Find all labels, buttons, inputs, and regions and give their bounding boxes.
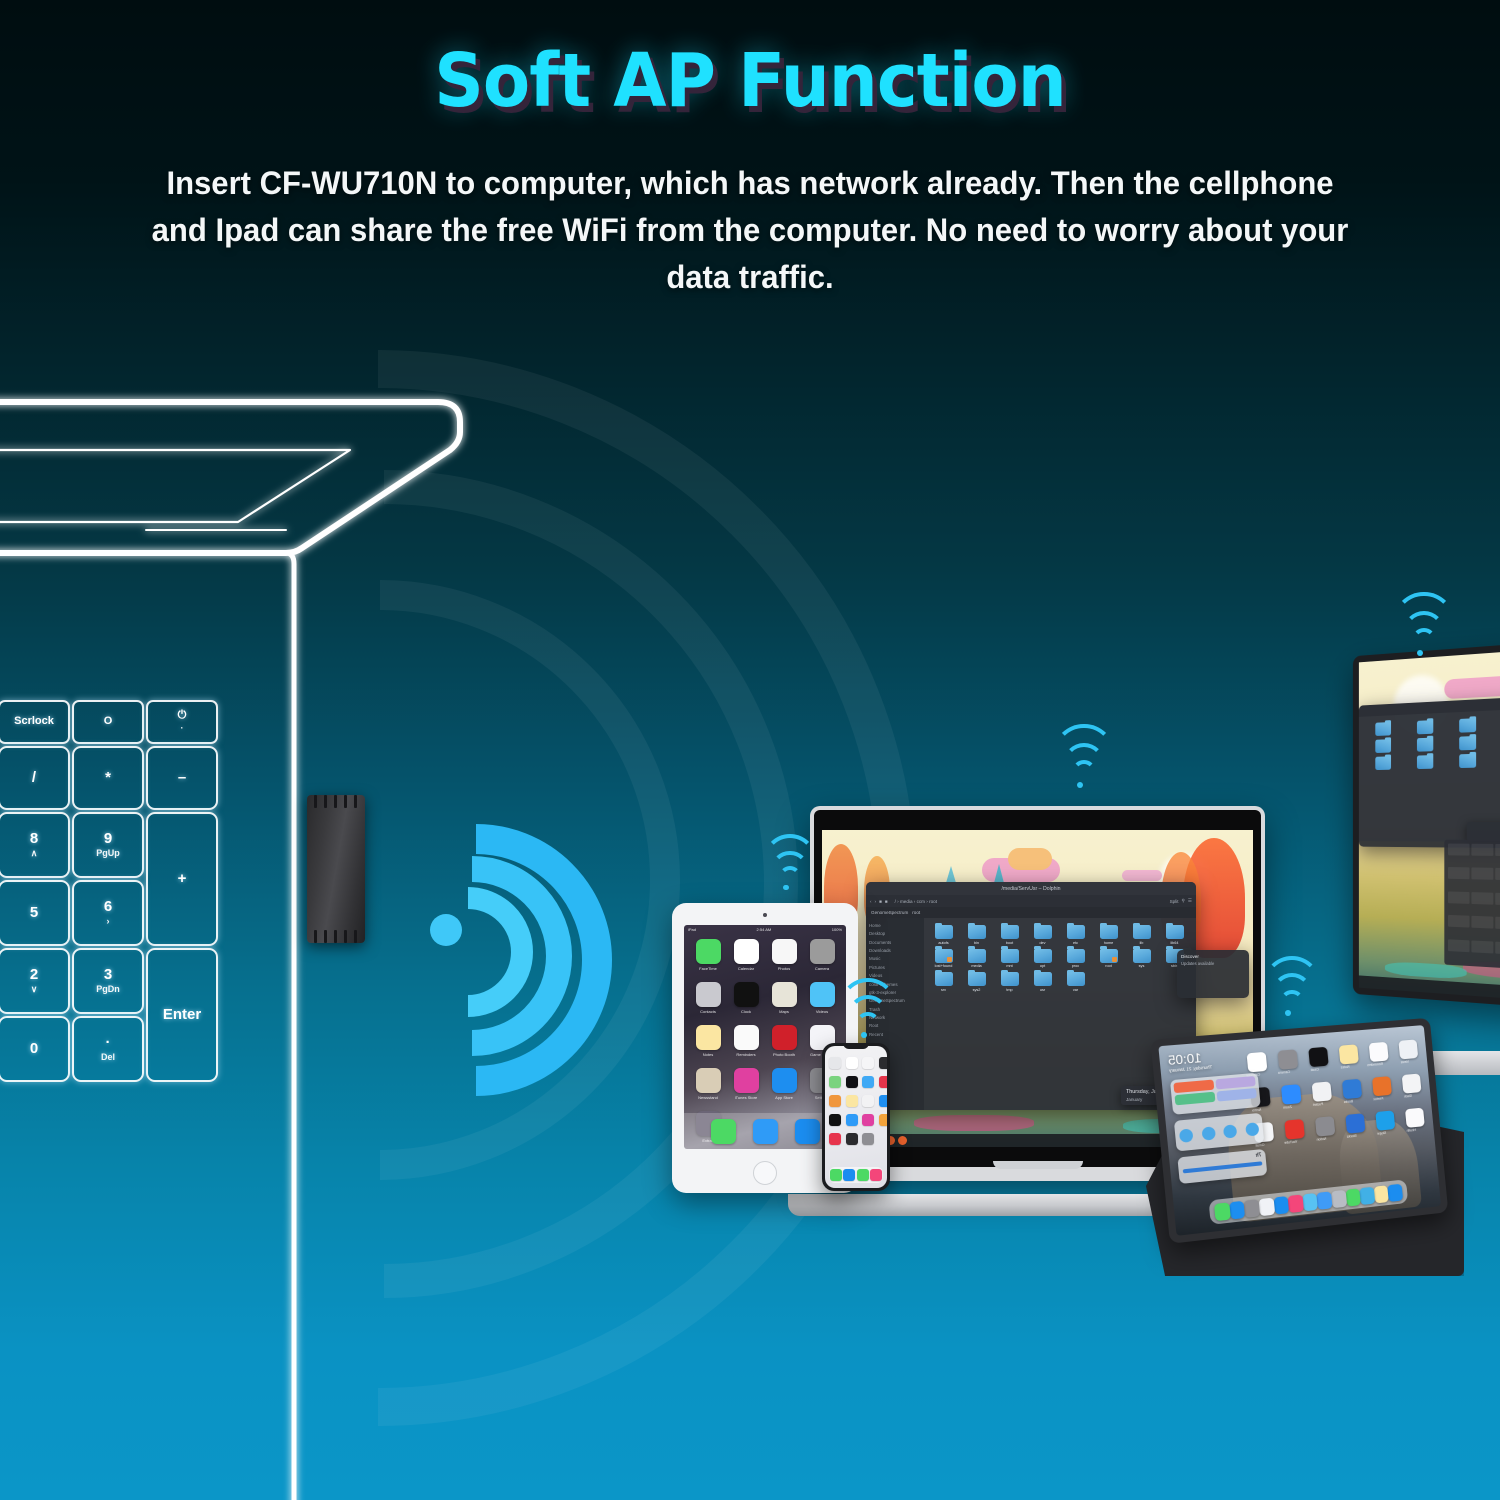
app-icon — [1402, 1073, 1422, 1093]
ios-app-newsstand[interactable]: Newsstand — [691, 1068, 725, 1108]
window-titlebar[interactable]: /media/ServUsr – Dolphin — [866, 882, 1196, 895]
ios-app-contacts[interactable]: Contacts — [691, 982, 725, 1022]
notification-title: Discover — [1181, 954, 1245, 959]
app-label: Contacts — [691, 1009, 725, 1014]
ipados-app-skype[interactable]: Skype — [1366, 1110, 1397, 1145]
app-label: News — [1391, 1059, 1419, 1065]
ipados-app-slack[interactable]: Slack — [1392, 1073, 1423, 1108]
ipad-pro-dock-icon-12[interactable] — [1229, 1200, 1245, 1219]
dock-app-mail[interactable] — [753, 1119, 778, 1144]
iphone-dock[interactable] — [829, 1167, 883, 1183]
app-label: Reminders — [729, 1052, 763, 1057]
app-label: Newsstand — [691, 1095, 725, 1100]
folder-icon — [1459, 718, 1476, 733]
key-label: 3 — [104, 967, 112, 983]
ipados-app-camera[interactable]: Camera — [1268, 1049, 1300, 1084]
folder-item[interactable]: home — [1093, 925, 1124, 945]
monitor-body: ‹ › ■ ■ Thursday, January 21, 2021 Janua… — [1353, 632, 1500, 1018]
app-label: Zoom — [1273, 1104, 1302, 1111]
app-label: Reminders — [1361, 1061, 1389, 1067]
iphone-dock-icon-4[interactable] — [870, 1169, 882, 1181]
ipad-pro-screen: NewsRemindersNotesClockCameraCalendarSla… — [1158, 1025, 1441, 1236]
calendar-cell — [1495, 844, 1500, 856]
app-label: iTunes Store — [729, 1095, 763, 1100]
monitor-calendar-widget — [1444, 840, 1500, 976]
key-label: 8 — [30, 831, 38, 847]
key-label: + — [178, 871, 187, 887]
ipados-app-health[interactable]: Health — [1395, 1108, 1426, 1143]
ipad-pro-clock-widget: 10:05 Thursday, 21 January — [1167, 1050, 1212, 1073]
wifi-badge-dot — [1417, 650, 1423, 656]
folder-label: media — [961, 964, 992, 968]
keypad-key-[interactable]: ·Del — [72, 1016, 144, 1082]
iphone-app-icon-15[interactable] — [862, 1114, 874, 1126]
folder-icon — [1001, 925, 1019, 939]
sidebar-item-documents[interactable]: Documents — [869, 939, 921, 947]
app-icon — [1278, 1049, 1299, 1070]
iphone-app-icon-14[interactable] — [846, 1114, 858, 1126]
app-label: Notion — [1307, 1136, 1336, 1143]
ios-app-app-store[interactable]: App Store — [767, 1068, 801, 1108]
monitor-folder-grid — [1364, 716, 1500, 771]
folder-item[interactable] — [1491, 752, 1500, 767]
key-sublabel: PgDn — [96, 985, 120, 995]
app-label: FaceTime — [691, 966, 725, 971]
calendar-cell — [1471, 916, 1493, 929]
folder-item[interactable] — [1491, 734, 1500, 750]
folder-label: autofs — [928, 941, 959, 945]
folder-icon — [1459, 736, 1476, 750]
app-icon — [1339, 1044, 1359, 1064]
ios-app-reminders[interactable]: Reminders — [729, 1025, 763, 1065]
iphone-app-icon-13[interactable] — [829, 1114, 841, 1126]
folder-icon — [1376, 739, 1392, 753]
folder-item[interactable]: lib64 — [1159, 925, 1190, 945]
folder-icon — [1376, 722, 1392, 736]
app-icon — [1247, 1052, 1268, 1073]
iphone-app-icon-10[interactable] — [846, 1095, 858, 1107]
folder-item[interactable]: sys2 — [961, 972, 992, 992]
ipad-pro-dock-icon-9[interactable] — [1273, 1196, 1289, 1215]
key-label: · — [106, 1035, 111, 1051]
back-icon[interactable]: ‹ — [870, 899, 872, 904]
calendar-cell — [1495, 917, 1500, 930]
key-label: ⏻ — [178, 710, 187, 722]
app-icon — [696, 1025, 721, 1050]
keypad-key-enter[interactable]: Enter — [146, 948, 218, 1082]
folder-label: proc — [1060, 964, 1091, 968]
folder-icon — [1001, 949, 1019, 963]
wifi-badge-dot — [783, 885, 788, 890]
window-title: /media/ServUsr – Dolphin — [1001, 886, 1060, 892]
ipados-app-pocket[interactable]: Pocket — [1302, 1081, 1334, 1116]
app-icon — [772, 982, 797, 1007]
lock-icon — [947, 957, 952, 962]
key-sublabel: Del — [101, 1053, 115, 1063]
calendar-cell — [1495, 893, 1500, 906]
breadcrumb[interactable]: / › media › ccm › root — [895, 899, 937, 904]
folder-icon — [1067, 972, 1085, 986]
app-icon — [1405, 1108, 1425, 1128]
sidebar-item-desktop[interactable]: Desktop — [869, 930, 921, 938]
app-icon — [772, 939, 797, 964]
key-sublabel: PgUp — [96, 849, 120, 859]
app-icon — [1398, 1039, 1418, 1059]
iphone-app-grid[interactable] — [829, 1057, 887, 1149]
folder-item[interactable]: root — [1093, 949, 1124, 969]
folder-item[interactable] — [1364, 756, 1403, 770]
ios-app-photos[interactable]: Photos — [767, 939, 801, 979]
search-icon[interactable]: ⚲ — [1182, 898, 1185, 904]
app-label: Pocket — [1304, 1101, 1333, 1108]
folder-item[interactable]: lib — [1126, 925, 1157, 945]
folder-item[interactable]: bin — [961, 925, 992, 945]
key-label: Enter — [163, 1007, 201, 1023]
folder-icon — [1376, 756, 1392, 770]
app-label: Notes — [1331, 1064, 1360, 1070]
iphone-app-icon-3[interactable] — [862, 1057, 874, 1069]
split-button[interactable]: Split — [1170, 899, 1179, 904]
ipad-pro-dock-icon-7[interactable] — [1302, 1192, 1318, 1210]
folder-item[interactable] — [1447, 753, 1489, 768]
folder-icon — [1459, 754, 1476, 768]
iphone-screen — [825, 1046, 887, 1188]
folder-label: dev — [1027, 941, 1058, 945]
menu-icon[interactable]: ☰ — [1188, 898, 1192, 904]
folder-item[interactable] — [1405, 755, 1445, 770]
folder-icon — [1133, 925, 1151, 939]
folder-item[interactable]: media — [961, 949, 992, 969]
app-label: Maps — [767, 1009, 801, 1014]
notification-body: Updates available — [1181, 961, 1245, 966]
ios-app-maps[interactable]: Maps — [767, 982, 801, 1022]
folder-label: root — [1093, 964, 1124, 968]
keypad-key-[interactable]: * — [72, 746, 144, 810]
folder-item[interactable]: usr — [1027, 972, 1058, 992]
ipad-pro-app-grid[interactable]: NewsRemindersNotesClockCameraCalendarSla… — [1236, 1039, 1426, 1157]
folder-label: opt — [1027, 964, 1058, 968]
ipados-app-youtube[interactable]: YouTube — [1274, 1119, 1306, 1155]
app-label: Skype — [1368, 1130, 1396, 1137]
folder-item[interactable] — [1405, 720, 1445, 735]
wifi-icon-laptop — [1052, 750, 1108, 792]
keypad-key-[interactable]: / — [0, 746, 70, 810]
iphone-app-icon-7[interactable] — [862, 1076, 874, 1088]
ipad-home-button[interactable] — [753, 1161, 777, 1185]
key-label: * — [105, 770, 111, 786]
iphone-app-icon-19[interactable] — [862, 1133, 874, 1145]
iphone-app-icon-1[interactable] — [829, 1057, 841, 1069]
taskbar-app-icon-3[interactable] — [898, 1136, 907, 1145]
ipad-battery: 100% — [832, 927, 842, 932]
folder-label: lost+found — [928, 964, 959, 968]
app-label: Books — [1334, 1098, 1363, 1105]
folder-item[interactable]: sys — [1126, 949, 1157, 969]
calendar-cell — [1471, 868, 1493, 880]
monitor-month-text: January — [1471, 833, 1500, 839]
adapter-vent — [354, 795, 357, 808]
folder-label: tmp — [994, 988, 1025, 992]
folder-item[interactable]: opt — [1027, 949, 1058, 969]
iphone-app-icon-2[interactable] — [846, 1057, 858, 1069]
app-label: Slack — [1394, 1093, 1422, 1099]
toolbar[interactable]: ‹ › ■ ■ / › media › ccm › root Split ⚲ ☰ — [866, 895, 1196, 907]
app-icon — [1375, 1110, 1395, 1130]
adapter-vent — [344, 930, 347, 943]
iphone-app-icon-5[interactable] — [829, 1076, 841, 1088]
iphone-dock-icon-1[interactable] — [830, 1169, 842, 1181]
app-icon — [696, 1068, 721, 1093]
key-label: 5 — [30, 905, 38, 921]
ipados-app-zoom[interactable]: Zoom — [1271, 1084, 1303, 1120]
wifi-icon-iphone — [838, 1002, 890, 1042]
folder-label: bin — [961, 941, 992, 945]
ipad-pro-dock-icon-10[interactable] — [1258, 1197, 1274, 1216]
keypad-key-8[interactable]: 8∧ — [0, 812, 70, 878]
app-label: Stocks — [1337, 1133, 1366, 1140]
calendar-cell — [1448, 844, 1469, 856]
notification-popup[interactable]: Discover Updates available — [1177, 950, 1249, 998]
ipados-app-clock[interactable]: Clock — [1298, 1047, 1330, 1082]
ipad-pro-dock-icon-4[interactable] — [1345, 1188, 1361, 1206]
key-label: 0 — [30, 1041, 38, 1057]
app-icon — [1342, 1079, 1362, 1099]
folder-item[interactable] — [1405, 737, 1445, 752]
keypad-key-[interactable]: ⏻· — [146, 700, 218, 744]
key-label: – — [178, 770, 186, 786]
forward-icon[interactable]: › — [875, 899, 877, 904]
folder-item[interactable] — [1447, 718, 1489, 734]
key-sublabel: · — [181, 724, 184, 734]
usb-wifi-adapter[interactable] — [307, 795, 365, 943]
iphone-dock-icon-2[interactable] — [843, 1169, 855, 1181]
ipad-pro-dock-icon-11[interactable] — [1244, 1199, 1260, 1218]
app-icon — [734, 1025, 759, 1050]
ipados-app-books[interactable]: Books — [1332, 1079, 1363, 1114]
app-label: Notes — [691, 1052, 725, 1057]
key-sublabel: ∧ — [31, 849, 38, 859]
keypad-key-scrlock[interactable]: Scrlock — [0, 700, 70, 744]
adapter-vent — [344, 795, 347, 808]
desktop-monitor-device[interactable]: ‹ › ■ ■ Thursday, January 21, 2021 Janua… — [1338, 645, 1500, 1075]
ios-app-clock[interactable]: Clock — [729, 982, 763, 1022]
app-icon — [1281, 1084, 1302, 1105]
ios-app-camera[interactable]: Camera — [805, 939, 839, 979]
ipad-pro-dock-icon-6[interactable] — [1317, 1191, 1333, 1209]
ipad-carrier: iPad — [688, 927, 696, 932]
monitor-screen: ‹ › ■ ■ Thursday, January 21, 2021 Janua… — [1359, 640, 1500, 1010]
ios-app-notes[interactable]: Notes — [691, 1025, 725, 1065]
app-icon — [1369, 1042, 1389, 1062]
folder-label: usr — [1027, 988, 1058, 992]
key-label: 2 — [30, 967, 38, 983]
app-icon — [1312, 1081, 1332, 1102]
folder-icon — [935, 972, 953, 986]
app-icon — [1308, 1047, 1328, 1067]
ipados-app-reminders[interactable]: Reminders — [1359, 1042, 1390, 1077]
keypad-key-[interactable]: + — [146, 812, 218, 946]
tab-root[interactable]: root — [912, 910, 920, 915]
iphone-app-icon-11[interactable] — [862, 1095, 874, 1107]
app-label: Clock — [1300, 1067, 1329, 1073]
ipados-app-notes[interactable]: Notes — [1329, 1044, 1360, 1079]
folder-item[interactable] — [1447, 736, 1489, 751]
app-icon — [1284, 1119, 1305, 1140]
ipad-pro-dock-icon-3[interactable] — [1359, 1186, 1375, 1204]
folder-item[interactable]: var — [1060, 972, 1091, 992]
app-label: App Store — [767, 1095, 801, 1100]
sidebar-item-home[interactable]: Home — [869, 922, 921, 930]
ipados-app-news[interactable]: News — [1389, 1039, 1420, 1074]
dock-app-messages[interactable] — [711, 1119, 736, 1144]
keypad-key-[interactable]: – — [146, 746, 218, 810]
ios-app-facetime[interactable]: FaceTime — [691, 939, 725, 979]
folder-icon — [1067, 925, 1085, 939]
app-icon — [696, 982, 721, 1007]
folder-label: lib64 — [1159, 941, 1190, 945]
folder-label: etc — [1060, 941, 1091, 945]
dock-app-safari[interactable] — [795, 1119, 820, 1144]
folder-item[interactable]: lost+found — [928, 949, 959, 969]
folder-icon — [1034, 972, 1052, 986]
folder-label: srv — [928, 988, 959, 992]
key-label: 6 — [104, 899, 112, 915]
app-icon — [734, 1068, 759, 1093]
app-icon — [734, 982, 759, 1007]
infographic-canvas: ScrlockO⏻·/*–8∧9PgUp+56›2∨3PgDnEnter0·De… — [0, 0, 1500, 1500]
ipad-pro-body: NewsRemindersNotesClockCameraCalendarSla… — [1150, 1018, 1448, 1244]
wifi-icon-ipad — [762, 858, 810, 894]
page-title: Soft AP Function — [53, 38, 1448, 124]
folder-icon — [1100, 949, 1118, 963]
app-icon — [772, 1068, 797, 1093]
keypad-key-5[interactable]: 5 — [0, 880, 70, 946]
wifi-badge-dot — [1285, 1010, 1291, 1016]
folder-icon — [968, 925, 986, 939]
iphone-app-icon-12[interactable] — [879, 1095, 888, 1107]
ipados-app-firefox[interactable]: Firefox — [1362, 1076, 1393, 1111]
adapter-vent — [324, 930, 327, 943]
folder-item[interactable]: autofs — [928, 925, 959, 945]
iphone-app-icon-6[interactable] — [846, 1076, 858, 1088]
folder-icon — [1133, 949, 1151, 963]
wifi-badge-arc — [1280, 990, 1304, 1014]
tab-genomespectrum[interactable]: GenomeSpectrum — [871, 910, 908, 915]
iphone-notch — [843, 1043, 869, 1049]
ipados-app-stocks[interactable]: Stocks — [1336, 1113, 1367, 1148]
app-label: Calendar — [729, 966, 763, 971]
keypad-key-o[interactable]: O — [72, 700, 144, 744]
view-icons-button[interactable]: ■ — [879, 899, 882, 904]
calendar-cell — [1448, 915, 1469, 928]
wifi-broadcast-icon — [420, 820, 680, 1040]
iphone-app-icon-17[interactable] — [829, 1133, 841, 1145]
folder-item[interactable]: mnt — [994, 949, 1025, 969]
iphone-app-icon-9[interactable] — [829, 1095, 841, 1107]
folder-item[interactable]: boot — [994, 925, 1025, 945]
key-label: O — [104, 716, 113, 728]
keypad-key-6[interactable]: 6› — [72, 880, 144, 946]
ios-app-itunes-store[interactable]: iTunes Store — [729, 1068, 763, 1108]
adapter-vent — [334, 930, 337, 943]
keypad-key-2[interactable]: 2∨ — [0, 948, 70, 1014]
iphone-dock-icon-3[interactable] — [857, 1169, 869, 1181]
app-label: Camera — [805, 966, 839, 971]
adapter-vent — [314, 795, 317, 808]
ios-app-calendar[interactable]: Calendar — [729, 939, 763, 979]
app-icon — [810, 939, 835, 964]
sidebar-item-music[interactable]: Music — [869, 955, 921, 963]
ipad-pro-device[interactable]: NewsRemindersNotesClockCameraCalendarSla… — [1146, 1018, 1464, 1280]
view-list-button[interactable]: ■ — [885, 899, 888, 904]
keypad-key-0[interactable]: 0 — [0, 1016, 70, 1082]
sidebar-item-downloads[interactable]: Downloads — [869, 947, 921, 955]
sidebar-item-pictures[interactable]: Pictures — [869, 964, 921, 972]
app-label: Health — [1397, 1127, 1425, 1134]
folder-label: lib — [1126, 941, 1157, 945]
ipad-front-camera — [763, 913, 767, 917]
app-icon — [1372, 1076, 1392, 1096]
ipad-pro-dock-icon-5[interactable] — [1331, 1189, 1347, 1207]
iphone-app-icon-8[interactable] — [879, 1076, 888, 1088]
folder-item[interactable]: etc — [1060, 925, 1091, 945]
ipad-pro-dock-icon-13[interactable] — [1214, 1202, 1231, 1221]
folder-item[interactable]: dev — [1027, 925, 1058, 945]
folder-icon — [1417, 720, 1433, 734]
calendar-cell — [1495, 941, 1500, 954]
folder-icon — [1166, 925, 1184, 939]
ios-app-photo-booth[interactable]: Photo Booth — [767, 1025, 801, 1065]
adapter-vent — [324, 795, 327, 808]
wifi-badge-dot — [861, 1032, 867, 1038]
keypad-key-9[interactable]: 9PgUp — [72, 812, 144, 878]
app-label: Photos — [767, 966, 801, 971]
folder-grid[interactable]: autofsbinbootdevetchomeliblib64lost+foun… — [928, 925, 1190, 992]
iphone-device[interactable] — [822, 1043, 890, 1191]
folder-icon — [1067, 949, 1085, 963]
calendar-cell — [1471, 844, 1493, 856]
iphone-app-icon-4[interactable] — [879, 1057, 888, 1069]
folder-item[interactable] — [1491, 716, 1500, 732]
folder-icon — [1001, 972, 1019, 986]
folder-label: sys — [1126, 964, 1157, 968]
wifi-icon-monitor — [1392, 618, 1448, 660]
iphone-app-icon-18[interactable] — [846, 1133, 858, 1145]
key-label: / — [32, 770, 36, 786]
ipados-app-notion[interactable]: Notion — [1305, 1116, 1337, 1152]
folder-icon — [935, 925, 953, 939]
tab-bar[interactable]: GenomeSpectrum root — [866, 907, 1196, 918]
app-label: YouTube — [1276, 1139, 1305, 1146]
folder-item[interactable]: proc — [1060, 949, 1091, 969]
adapter-vent — [314, 930, 317, 943]
adapter-vent — [334, 795, 337, 808]
folder-item[interactable] — [1364, 721, 1403, 736]
folder-item[interactable] — [1364, 739, 1403, 754]
ios-app-videos[interactable]: Videos — [805, 982, 839, 1022]
numeric-keypad: ScrlockO⏻·/*–8∧9PgUp+56›2∨3PgDnEnter0·De… — [0, 700, 226, 1110]
ipad-pro-dock-icon-8[interactable] — [1288, 1194, 1304, 1213]
iphone-app-icon-16[interactable] — [879, 1114, 888, 1126]
folder-item[interactable]: tmp — [994, 972, 1025, 992]
keypad-key-3[interactable]: 3PgDn — [72, 948, 144, 1014]
ipad-pro-dock-icon-2[interactable] — [1373, 1185, 1389, 1203]
folder-item[interactable]: srv — [928, 972, 959, 992]
ipad-pro-dock-icon-1[interactable] — [1388, 1183, 1404, 1201]
key-sublabel: › — [107, 917, 110, 927]
app-label: Camera — [1270, 1069, 1299, 1075]
app-label: Clock — [729, 1009, 763, 1014]
